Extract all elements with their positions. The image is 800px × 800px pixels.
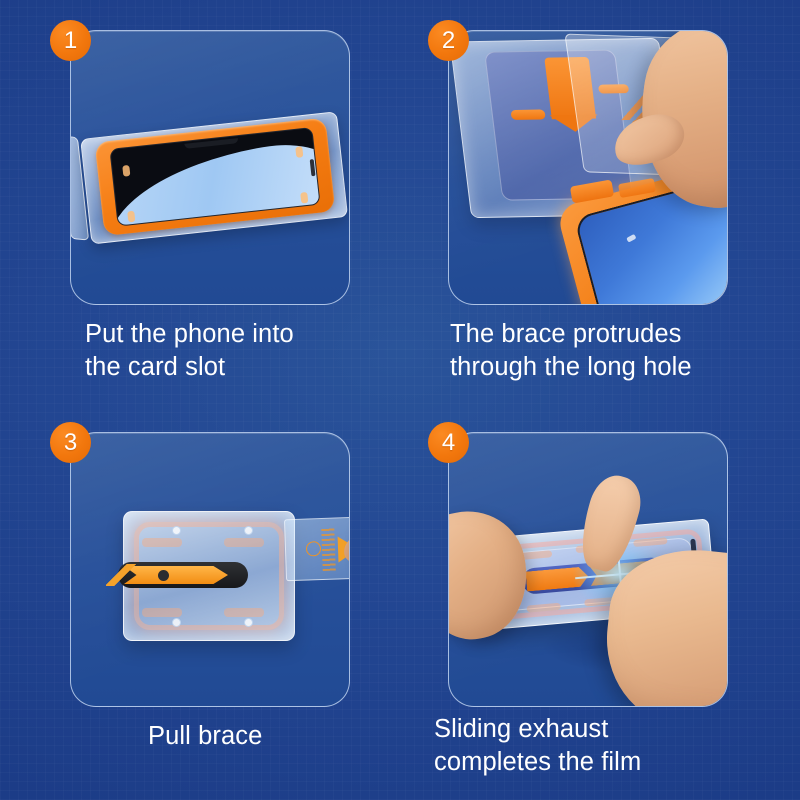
box-label-icon [224,538,264,547]
caption-line: Sliding exhaust [434,713,800,746]
frame-tab-icon [300,192,308,204]
caption-line: the card slot [85,351,400,384]
step-badge-2: 2 [428,20,469,61]
installer-box-icon [123,511,295,641]
step-panel-4: 4 [400,400,800,800]
phone-screen-icon [109,127,320,227]
step-card-4: 4 [448,432,728,707]
phone-notch-icon [184,138,238,149]
step-illustration-2 [449,31,727,304]
step-badge-4: 4 [428,422,469,463]
brand-logo-icon [158,570,169,581]
step-marker-icon [306,541,322,557]
step-caption-1: Put the phone into the card slot [0,318,400,384]
box-label-icon [142,608,182,617]
step-illustration-1 [71,31,349,304]
step-panel-2: 2 [400,0,800,400]
frame-tab-icon [127,211,135,223]
step-illustration-3 [71,433,349,706]
chevron-left-icon [106,564,136,586]
step-card-2: 2 [448,30,728,305]
box-label-icon [224,608,264,617]
caption-line: through the long hole [450,351,800,384]
step-badge-1: 1 [50,20,91,61]
step-card-1: 1 [70,30,350,305]
step-panel-1: 1 [0,0,400,400]
pull-brace-scene [71,433,349,706]
sliding-exhaust-scene [449,433,727,706]
vertical-text-icon [321,527,336,571]
step-caption-2: The brace protrudes through the long hol… [400,318,800,384]
box-pin-icon [172,618,181,627]
steps-grid: 1 [0,0,800,800]
installer-tray-icon [71,103,349,252]
frame-tab-icon [295,146,303,158]
step-card-3: 3 [70,432,350,707]
step-caption-3: Pull brace [0,720,400,753]
caption-line: The brace protrudes [450,318,800,351]
step-caption-4: Sliding exhaust completes the film [400,713,800,779]
orange-arrow-strip-icon [118,562,248,588]
box-pin-icon [244,618,253,627]
lid-lift-scene [449,31,727,304]
step-illustration-4 [449,433,727,706]
left-hand-icon [449,501,539,649]
box-pin-icon [244,526,253,535]
box-label-icon [142,538,182,547]
step-panel-3: 3 [0,400,400,800]
orange-label-icon [510,109,545,120]
caption-line: Pull brace [148,720,400,753]
caption-line: completes the film [434,746,800,779]
frame-tab-icon [122,165,130,177]
box-pin-icon [172,526,181,535]
transparent-brace-icon [284,515,349,582]
screen-highlight-icon [626,234,636,243]
step-badge-3: 3 [50,422,91,463]
caption-line: Put the phone into [85,318,400,351]
